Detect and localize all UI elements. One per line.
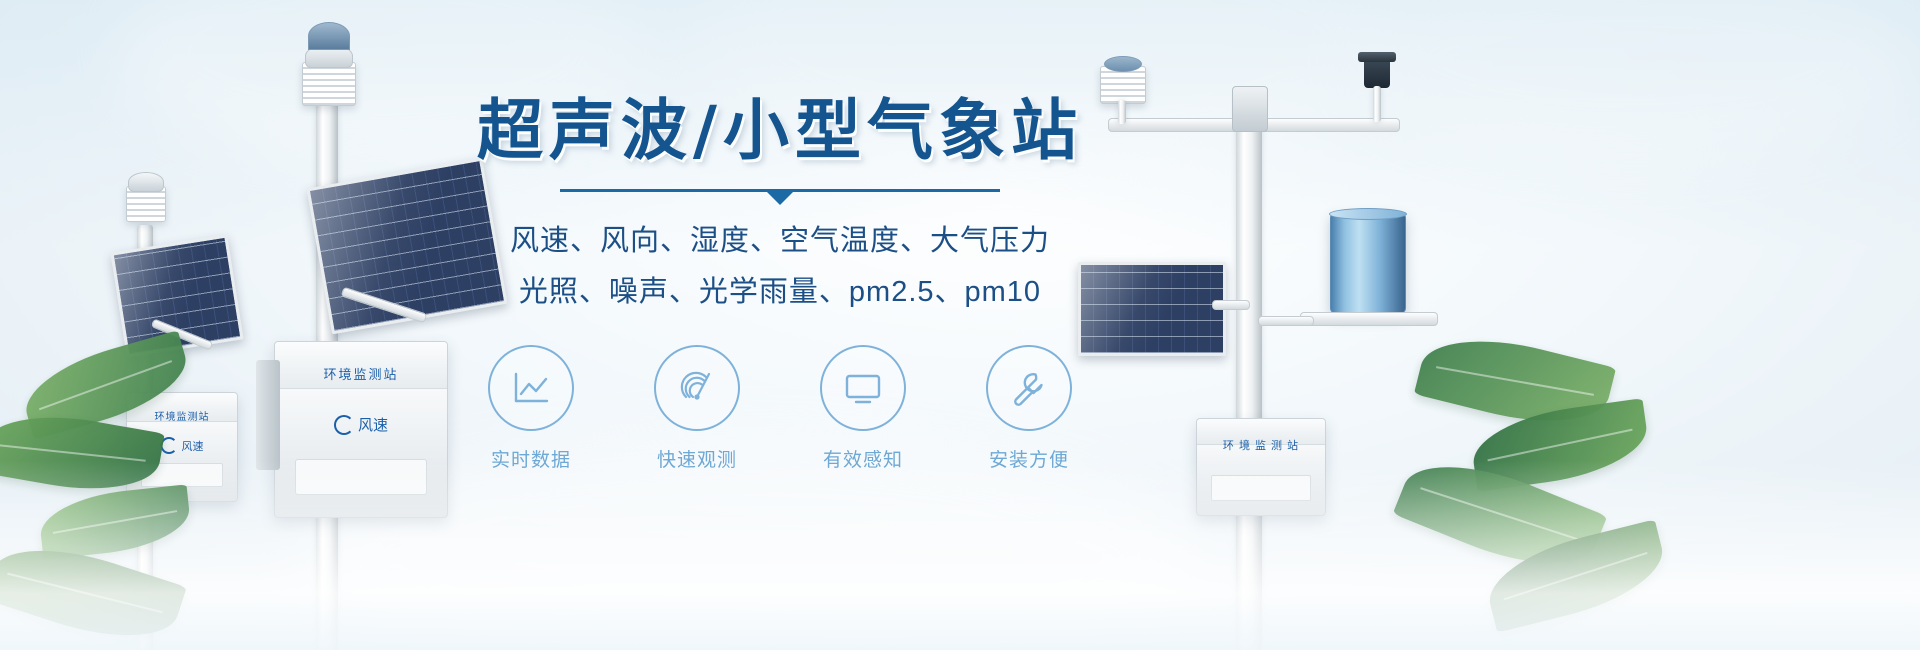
shelf-bracket [1258, 316, 1314, 326]
rain-gauge-rim [1329, 208, 1407, 220]
brand-mark-icon [334, 415, 354, 435]
radiation-shield [302, 62, 356, 106]
brand-logo: 风速 [161, 437, 204, 454]
feature-label: 快速观测 [638, 445, 756, 472]
panel-bracket [1212, 300, 1250, 310]
wrench-icon [1007, 367, 1051, 409]
mast-collar [1232, 86, 1268, 132]
cabinet-label: 环 境 监 测 站 [1223, 437, 1299, 453]
sensor-stem [1373, 86, 1381, 122]
cabinet-label: 环境监测站 [323, 364, 398, 383]
banner-title: 超声波/小型气象站 [430, 96, 1130, 165]
feature-label: 实时数据 [472, 445, 590, 472]
brand-logo: 风速 [334, 414, 388, 435]
feature-item-fast-observation[interactable]: 快速观测 [638, 345, 756, 472]
line-chart-icon [509, 368, 553, 408]
banner-text-block: 超声波/小型气象站 风速、风向、湿度、空气温度、大气压力 光照、噪声、光学雨量、… [430, 96, 1130, 316]
rain-gauge-shelf [1300, 312, 1438, 326]
camera-hood [1358, 52, 1396, 62]
sensor-cap [128, 172, 164, 192]
banner-subtitle-line-2: 光照、噪声、光学雨量、pm2.5、pm10 [430, 269, 1130, 316]
feature-icon-circle [488, 345, 574, 431]
brand-name: 风速 [358, 414, 388, 435]
radar-signal-icon [675, 367, 719, 409]
monitor-icon [841, 368, 885, 408]
cabinet-side-bracket [256, 360, 280, 470]
feature-list: 实时数据 快速观测 有效感知 [430, 345, 1130, 472]
feature-item-easy-installation[interactable]: 安装方便 [970, 345, 1088, 472]
feature-icon-circle [986, 345, 1072, 431]
ultrasonic-sensor-dome [308, 22, 350, 50]
cabinet-label: 环境监测站 [155, 408, 210, 423]
feature-label: 有效感知 [804, 445, 922, 472]
product-banner: 环境监测站 风速 环境监测站 风速 [0, 0, 1920, 650]
feature-icon-circle [820, 345, 906, 431]
divider-triangle-icon [767, 192, 793, 205]
feature-label: 安装方便 [970, 445, 1088, 472]
feature-icon-circle [654, 345, 740, 431]
ground-glow [0, 460, 1920, 650]
feature-item-effective-sensing[interactable]: 有效感知 [804, 345, 922, 472]
ultrasonic-wind-sensor [1104, 56, 1142, 72]
title-divider [560, 189, 1000, 192]
camera-sensor [1364, 58, 1390, 88]
rain-gauge [1330, 212, 1406, 314]
brand-name: 风速 [182, 438, 204, 454]
banner-subtitle-line-1: 风速、风向、湿度、空气温度、大气压力 [430, 218, 1130, 265]
feature-item-realtime-data[interactable]: 实时数据 [472, 345, 590, 472]
